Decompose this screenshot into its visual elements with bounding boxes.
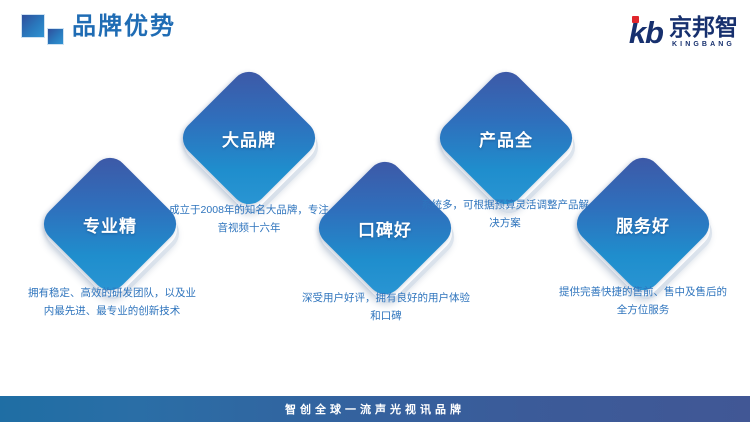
advantage-diamond-1[interactable]: 专业精 [58, 172, 162, 276]
footer-slogan: 智创全球一流声光视讯品牌 [285, 401, 465, 417]
advantage-label-2: 大品牌 [197, 86, 301, 190]
advantage-diamond-4[interactable]: 产品全 [454, 86, 558, 190]
logo-chinese-name: 京邦智 [669, 15, 738, 39]
page-title: 品牌优势 [72, 12, 176, 42]
logo-wordmark: 京邦智 KINGBANG [669, 15, 738, 49]
advantage-caption-3: 深受用户好评，拥有良好的用户体验和口碑 [302, 289, 470, 325]
advantage-caption-4: 系统多，可根据预算灵活调整产品解决方案 [421, 196, 589, 232]
logo-red-dot-icon [632, 16, 639, 23]
logo-english-name: KINGBANG [669, 40, 738, 49]
blue-square-large-icon [21, 14, 45, 38]
advantage-label-5: 服务好 [591, 172, 695, 276]
logo-mark-kb: kb [629, 17, 664, 48]
advantage-diamond-5[interactable]: 服务好 [591, 172, 695, 276]
blue-square-small-icon [47, 28, 64, 45]
advantage-diamond-2[interactable]: 大品牌 [197, 86, 301, 190]
advantage-caption-2: 成立于2008年的知名大品牌，专注音视频十六年 [165, 201, 333, 237]
footer-bar: 智创全球一流声光视讯品牌 [0, 395, 750, 422]
brand-logo: kb 京邦智 KINGBANG [629, 14, 738, 50]
advantage-label-4: 产品全 [454, 86, 558, 190]
header-decoration [21, 14, 67, 48]
advantages-stage: 专业精 拥有稳定、高效的研发团队，以及业内最先进、最专业的创新技术 大品牌 成立… [0, 62, 750, 392]
advantage-caption-1: 拥有稳定、高效的研发团队，以及业内最先进、最专业的创新技术 [28, 284, 196, 320]
advantage-label-1: 专业精 [58, 172, 162, 276]
advantage-caption-5: 提供完善快捷的售前、售中及售后的全方位服务 [559, 283, 727, 319]
page-header: 品牌优势 kb 京邦智 KINGBANG [0, 0, 750, 62]
